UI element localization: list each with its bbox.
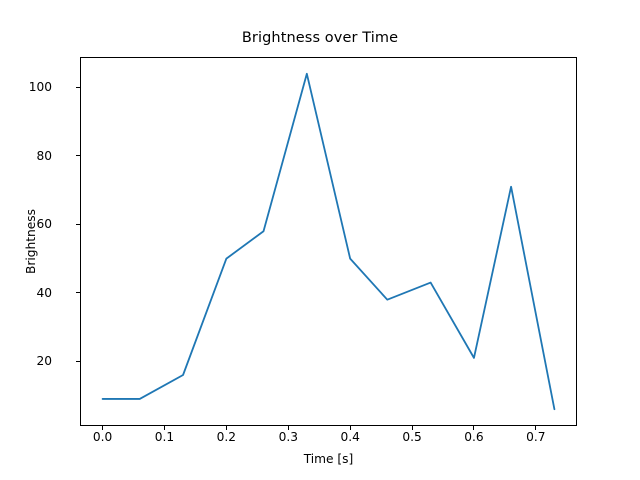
x-tick-label: 0.7	[526, 430, 545, 444]
chart-title: Brightness over Time	[0, 30, 640, 46]
line-plot-area	[80, 57, 577, 426]
x-tick-label: 0.5	[402, 430, 421, 444]
x-tick-label: 0.3	[279, 430, 298, 444]
brightness-line-series	[103, 74, 555, 409]
x-tick-label: 0.4	[340, 430, 359, 444]
x-tick-label: 0.1	[155, 430, 174, 444]
x-axis-label: Time [s]	[80, 452, 577, 466]
y-tick-mark	[76, 224, 80, 225]
y-tick-mark	[76, 87, 80, 88]
y-tick-mark	[76, 361, 80, 362]
x-tick-label: 0.6	[464, 430, 483, 444]
y-tick-mark	[76, 292, 80, 293]
y-tick-mark	[76, 155, 80, 156]
y-axis-label: Brightness	[22, 57, 40, 426]
x-tick-label: 0.2	[217, 430, 236, 444]
x-tick-label: 0.0	[93, 430, 112, 444]
chart-figure: Brightness over Time 0.00.10.20.30.40.50…	[0, 0, 640, 480]
